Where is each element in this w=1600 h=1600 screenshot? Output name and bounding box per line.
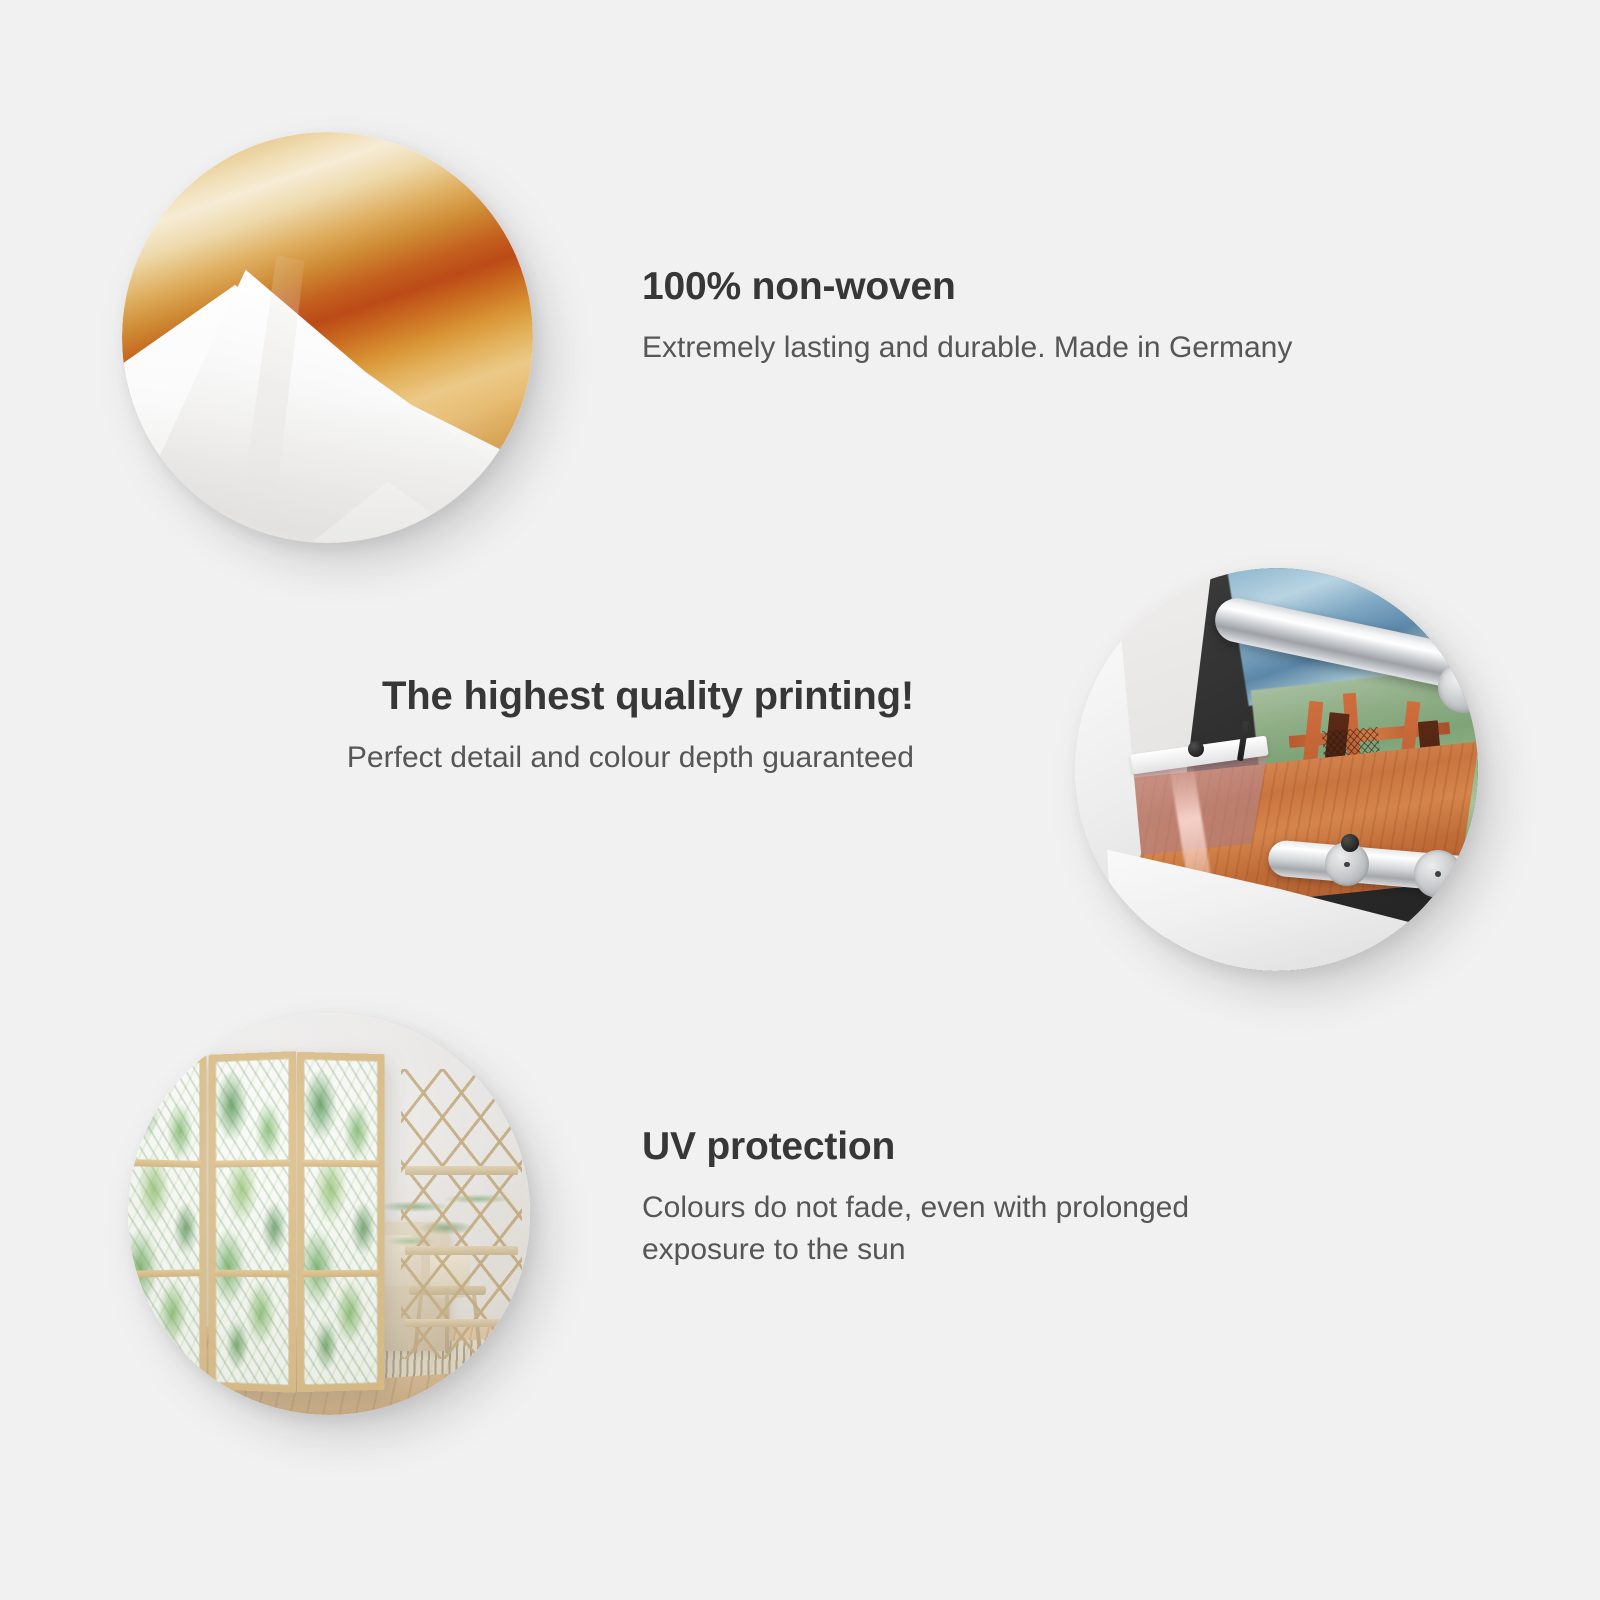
divider-panel-3 [297,1052,385,1392]
printing-press-image [1075,568,1478,971]
wallpaper-peel-photo [122,132,533,543]
room-divider-image [128,1013,530,1415]
press-knob-lower [1341,834,1359,852]
infographic-canvas: 100% non-woven Extremely lasting and dur… [0,0,1600,1600]
feature-text-uv-protection: UV protection Colours do not fade, even … [642,1125,1202,1272]
feature-body-uv-protection: Colours do not fade, even with prolonged… [642,1187,1202,1272]
feature-body-non-woven: Extremely lasting and durable. Made in G… [642,327,1312,370]
room-lattice-shelf-frame [401,1069,522,1358]
feature-body-printing: Perfect detail and colour depth guarante… [306,737,914,780]
printing-press-photo [1075,568,1478,971]
tropical-room-divider-screen [128,1053,385,1391]
wallpaper-peel-image [122,132,533,543]
divider-panel-2 [209,1051,297,1392]
lattice-shelf-2 [405,1246,518,1255]
wallpaper-shadow-gradient [122,403,533,543]
press-roller-cap-lower-right [1414,850,1462,898]
lattice-shelf-1 [405,1166,518,1175]
feature-heading-printing: The highest quality printing! [306,674,914,719]
lattice-shelf-3 [405,1319,518,1328]
divider-panel-1 [128,1050,207,1394]
feature-text-printing: The highest quality printing! Perfect de… [306,674,914,779]
room-divider-photo [128,1013,530,1415]
feature-heading-non-woven: 100% non-woven [642,265,1312,309]
feature-heading-uv-protection: UV protection [642,1125,1202,1169]
feature-text-non-woven: 100% non-woven Extremely lasting and dur… [642,265,1312,369]
